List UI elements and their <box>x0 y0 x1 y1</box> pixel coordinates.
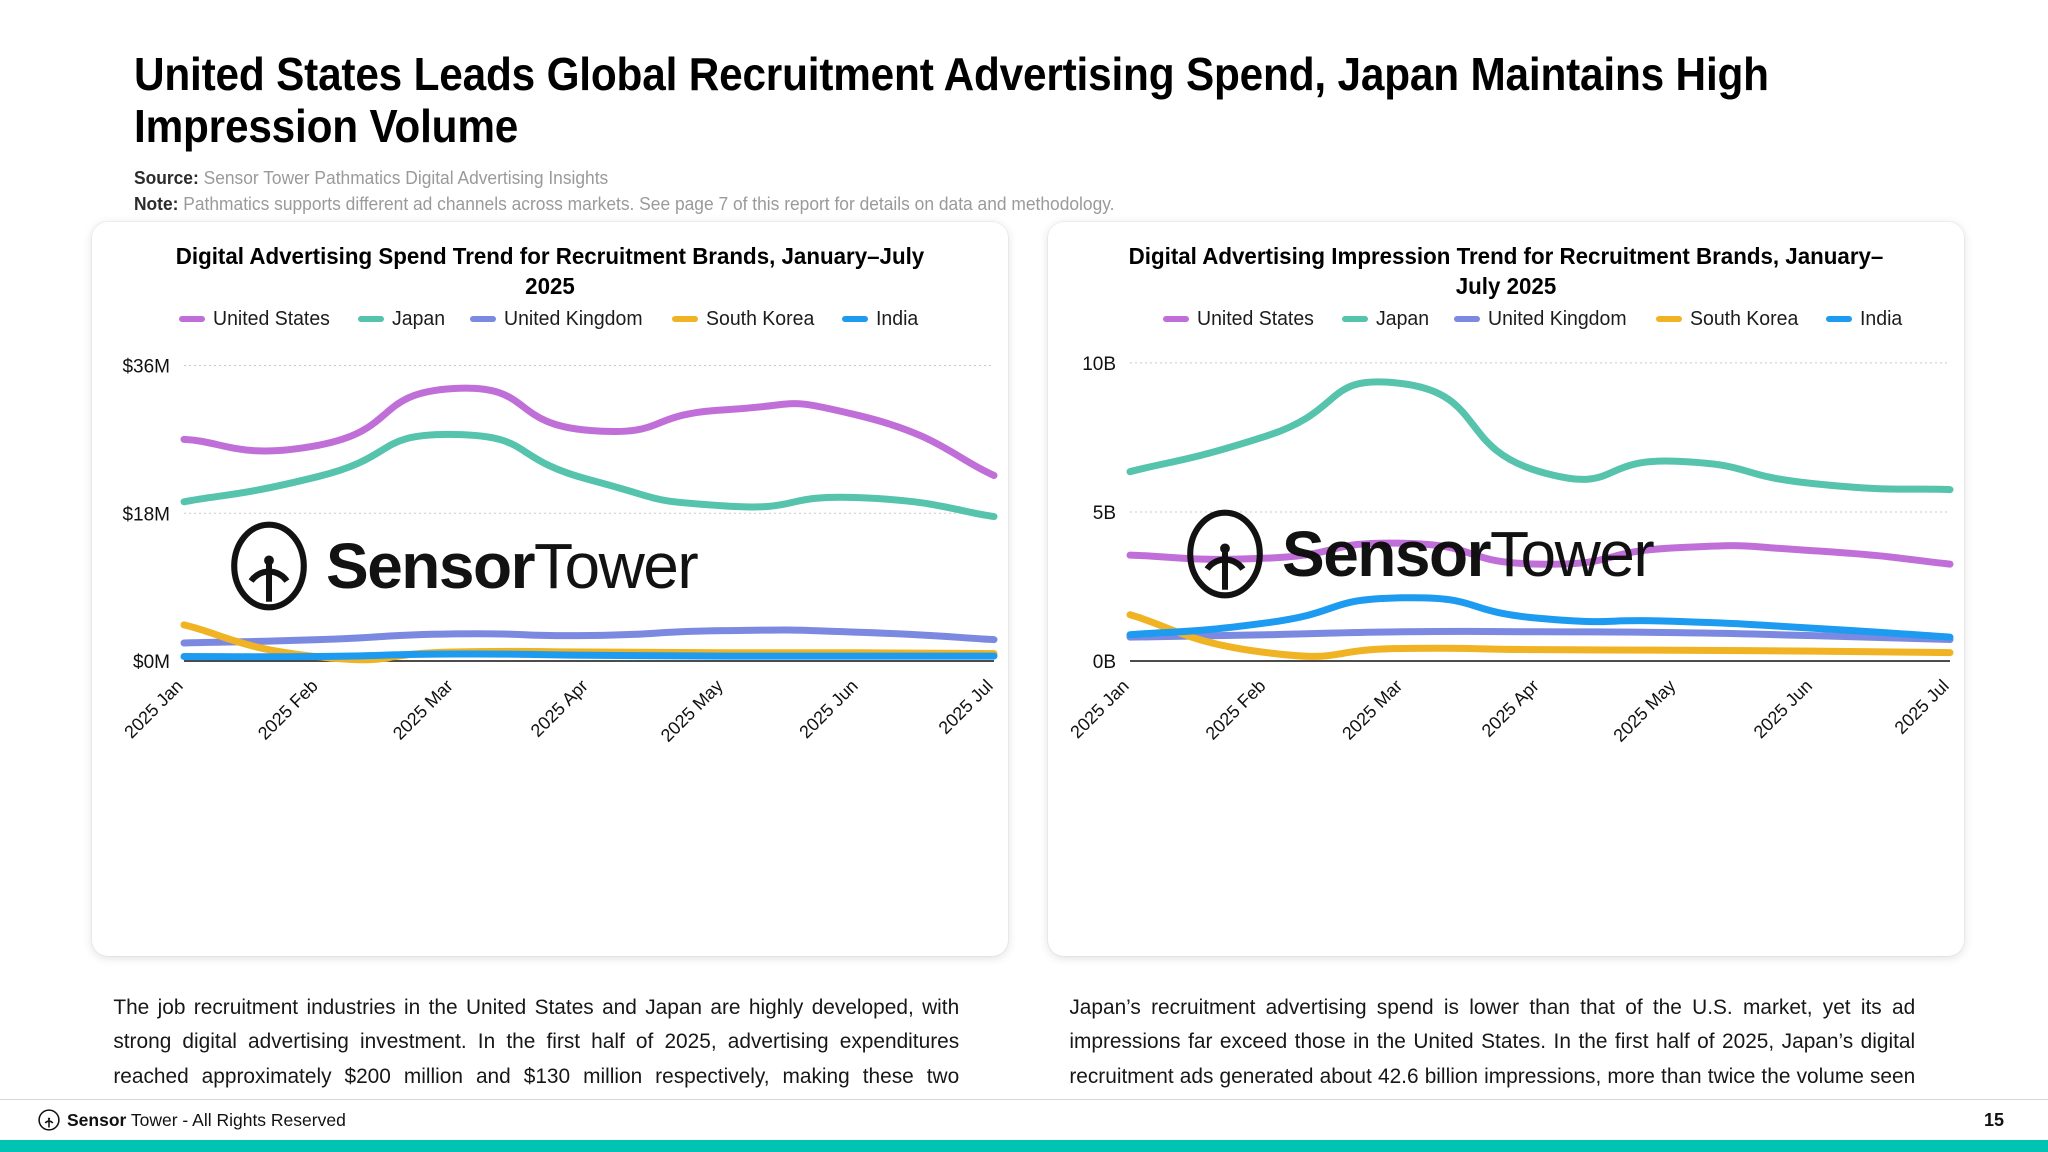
x-axis-tick-label: 2025 Jul <box>1891 676 1953 738</box>
x-axis-tick-label: 2025 May <box>657 676 727 746</box>
legend-swatch-icon <box>1342 316 1368 322</box>
note-line: Note: Pathmatics supports different ad c… <box>134 191 1854 217</box>
chart-card-impressions: Digital Advertising Impression Trend for… <box>1048 222 1964 956</box>
legend-item-united-kingdom[interactable]: United Kingdom <box>470 307 650 331</box>
page-title: United States Leads Global Recruitment A… <box>134 48 1818 153</box>
line-chart-spend[interactable]: $36M$18M$0M2025 Jan2025 Feb2025 Mar2025 … <box>92 331 1008 801</box>
legend-item-united-states[interactable]: United States <box>1163 307 1320 331</box>
x-axis-tick-label: 2025 May <box>1609 676 1679 746</box>
series-line-japan <box>1130 382 1950 490</box>
x-axis-tick-label: 2025 Apr <box>1478 676 1543 741</box>
legend-item-south-korea[interactable]: South Korea <box>1656 307 1804 331</box>
legend-swatch-icon <box>842 316 868 322</box>
slide-footer: Sensor Tower - All Rights Reserved 15 <box>0 1099 2048 1152</box>
chart-title-spend: Digital Advertising Spend Trend for Recr… <box>115 222 985 301</box>
slide-header: United States Leads Global Recruitment A… <box>134 48 1964 217</box>
note-value: Pathmatics supports different ad channel… <box>178 193 1114 214</box>
chart-card-spend: Digital Advertising Spend Trend for Recr… <box>92 222 1008 956</box>
x-axis-tick-label: 2025 Mar <box>1338 676 1406 744</box>
legend-swatch-icon <box>1163 316 1189 322</box>
y-axis-tick-label: $36M <box>122 357 170 378</box>
line-chart-impressions[interactable]: 10B5B0B2025 Jan2025 Feb2025 Mar2025 Apr2… <box>1048 331 1964 801</box>
x-axis-tick-label: 2025 Jun <box>795 676 862 743</box>
y-axis-tick-label: $0M <box>133 652 170 673</box>
chart-legend-spend: United StatesJapanUnited KingdomSouth Ko… <box>92 301 1008 331</box>
legend-swatch-icon <box>358 316 384 322</box>
series-line-united-kingdom <box>1130 632 1950 640</box>
y-axis-tick-label: $18M <box>122 504 170 525</box>
legend-item-united-states[interactable]: United States <box>179 307 336 331</box>
legend-item-japan[interactable]: Japan <box>1342 307 1432 331</box>
legend-swatch-icon <box>179 316 205 322</box>
legend-label: Japan <box>392 307 445 331</box>
legend-label: United Kingdom <box>504 307 643 331</box>
plot-area-spend: $36M$18M$0M2025 Jan2025 Feb2025 Mar2025 … <box>92 331 1008 801</box>
source-label: Source: <box>134 167 199 188</box>
x-axis-tick-label: 2025 Jan <box>120 676 187 743</box>
x-axis-tick-label: 2025 Jan <box>1066 676 1133 743</box>
series-line-united-states <box>1130 543 1950 564</box>
x-axis-tick-label: 2025 Feb <box>254 676 322 744</box>
legend-swatch-icon <box>470 316 496 322</box>
legend-label: South Korea <box>706 307 814 331</box>
footer-text: Sensor Tower - All Rights Reserved <box>67 1110 346 1131</box>
legend-swatch-icon <box>672 316 698 322</box>
legend-item-japan[interactable]: Japan <box>358 307 448 331</box>
plot-area-impressions: 10B5B0B2025 Jan2025 Feb2025 Mar2025 Apr2… <box>1048 331 1964 801</box>
source-note-block: Source: Sensor Tower Pathmatics Digital … <box>134 165 1964 217</box>
footer-brand: Sensor Tower - All Rights Reserved <box>38 1109 346 1131</box>
y-axis-tick-label: 5B <box>1093 503 1116 524</box>
chart-panels: Digital Advertising Spend Trend for Recr… <box>92 222 1964 956</box>
series-line-united-states <box>184 388 994 475</box>
legend-label: India <box>1860 307 1902 331</box>
x-axis-tick-label: 2025 Mar <box>389 676 457 744</box>
page-number: 15 <box>1984 1110 2004 1131</box>
series-line-united-kingdom <box>184 630 994 643</box>
legend-item-south-korea[interactable]: South Korea <box>672 307 820 331</box>
legend-item-india[interactable]: India <box>842 307 920 331</box>
legend-label: United States <box>1197 307 1314 331</box>
legend-swatch-icon <box>1826 316 1852 322</box>
sensor-tower-logo-icon <box>38 1109 60 1131</box>
legend-swatch-icon <box>1656 316 1682 322</box>
y-axis-tick-label: 0B <box>1093 652 1116 673</box>
chart-legend-impressions: United StatesJapanUnited KingdomSouth Ko… <box>1048 301 1964 331</box>
legend-label: United Kingdom <box>1488 307 1627 331</box>
legend-label: Japan <box>1376 307 1429 331</box>
x-axis-tick-label: 2025 Jun <box>1750 676 1817 743</box>
y-axis-tick-label: 10B <box>1082 354 1116 375</box>
source-line: Source: Sensor Tower Pathmatics Digital … <box>134 165 1854 191</box>
x-axis-tick-label: 2025 Apr <box>527 676 592 741</box>
x-axis-tick-label: 2025 Jul <box>935 676 997 738</box>
series-line-india <box>184 654 994 657</box>
note-label: Note: <box>134 193 178 214</box>
footer-accent-bar <box>0 1140 2048 1152</box>
legend-swatch-icon <box>1454 316 1480 322</box>
source-value: Sensor Tower Pathmatics Digital Advertis… <box>199 167 609 188</box>
legend-item-united-kingdom[interactable]: United Kingdom <box>1454 307 1634 331</box>
legend-label: India <box>876 307 918 331</box>
legend-label: South Korea <box>1690 307 1798 331</box>
legend-item-india[interactable]: India <box>1826 307 1904 331</box>
legend-label: United States <box>213 307 330 331</box>
x-axis-tick-label: 2025 Feb <box>1202 676 1270 744</box>
chart-title-impressions: Digital Advertising Impression Trend for… <box>1071 222 1941 301</box>
